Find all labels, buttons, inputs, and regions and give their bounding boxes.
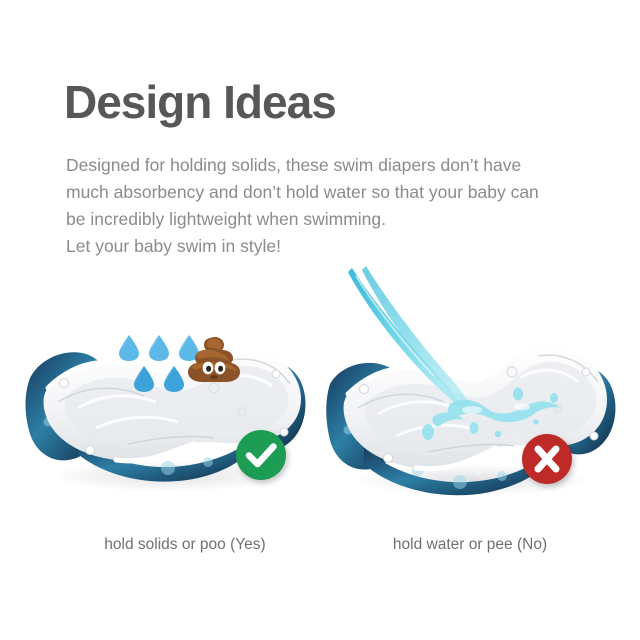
- caption-no: hold water or pee (No): [320, 536, 620, 554]
- x-icon: [522, 434, 572, 484]
- poo-emoji-icon: [186, 332, 242, 388]
- status-badge-yes: [236, 430, 286, 480]
- comparison-panel-no: [322, 262, 622, 512]
- water-drop-icon: [148, 334, 170, 362]
- swim-diaper-icon: [322, 262, 622, 512]
- description-line-4: Let your baby swim in style!: [66, 233, 590, 260]
- page-title: Design Ideas: [64, 76, 336, 128]
- description-paragraph: Designed for holding solids, these swim …: [66, 152, 590, 260]
- description-line-2: much absorbency and don’t hold water so …: [66, 179, 590, 206]
- water-drop-icon: [133, 365, 155, 393]
- comparison-panel-yes: [18, 262, 318, 512]
- product-photo-right: [322, 262, 622, 512]
- description-line-3: be incredibly lightweight when swimming.: [66, 206, 590, 233]
- infographic-page: Design Ideas Designed for holding solids…: [0, 0, 640, 640]
- status-badge-no: [522, 434, 572, 484]
- water-drop-icon: [163, 365, 185, 393]
- check-icon: [236, 430, 286, 480]
- product-photo-left: [18, 262, 318, 512]
- description-line-1: Designed for holding solids, these swim …: [66, 152, 590, 179]
- water-drop-icon: [118, 334, 140, 362]
- caption-yes: hold solids or poo (Yes): [35, 536, 335, 554]
